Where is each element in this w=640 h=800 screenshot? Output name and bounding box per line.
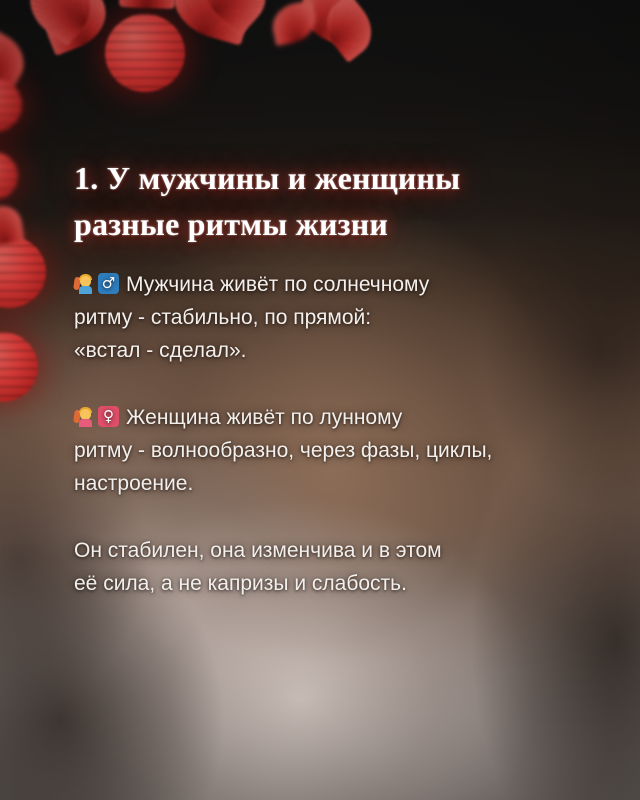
emoji-group-male: ♂ — [74, 272, 119, 294]
paragraph-line: её сила, а не капризы и слабость. — [74, 567, 614, 600]
paragraph-text: Мужчина живёт по солнечному — [126, 273, 429, 296]
headline-line: разные ритмы жизни — [74, 201, 574, 247]
woman-raising-hand-icon — [74, 405, 96, 427]
paragraph-female-rhythm: ♀ Женщина живёт по лунному ритму - волно… — [74, 401, 614, 500]
slide-canvas: 1. У мужчины и женщины разные ритмы жизн… — [0, 0, 640, 800]
paragraph-line: «встал - сделал». — [74, 334, 614, 367]
paragraph-conclusion: Он стабилен, она изменчива и в этом её с… — [74, 534, 614, 600]
paragraph-line: Он стабилен, она изменчива и в этом — [74, 534, 614, 567]
male-sign-icon: ♂ — [98, 273, 119, 294]
paragraph-line: ритму - волнообразно, через фазы, циклы, — [74, 434, 614, 467]
paragraph-line: настроение. — [74, 467, 614, 500]
headline-line: 1. У мужчины и женщины — [74, 155, 574, 201]
female-sign-icon: ♀ — [98, 406, 119, 427]
paragraph-line: ♀ Женщина живёт по лунному — [74, 401, 614, 434]
person-raising-hand-icon — [74, 272, 96, 294]
page-title: 1. У мужчины и женщины разные ритмы жизн… — [74, 155, 574, 247]
paragraph-male-rhythm: ♂ Мужчина живёт по солнечному ритму - ст… — [74, 268, 614, 367]
paragraph-line: ♂ Мужчина живёт по солнечному — [74, 268, 614, 301]
emoji-group-female: ♀ — [74, 405, 119, 427]
paragraph-line: ритму - стабильно, по прямой: — [74, 301, 614, 334]
paragraph-text: Женщина живёт по лунному — [126, 406, 402, 429]
